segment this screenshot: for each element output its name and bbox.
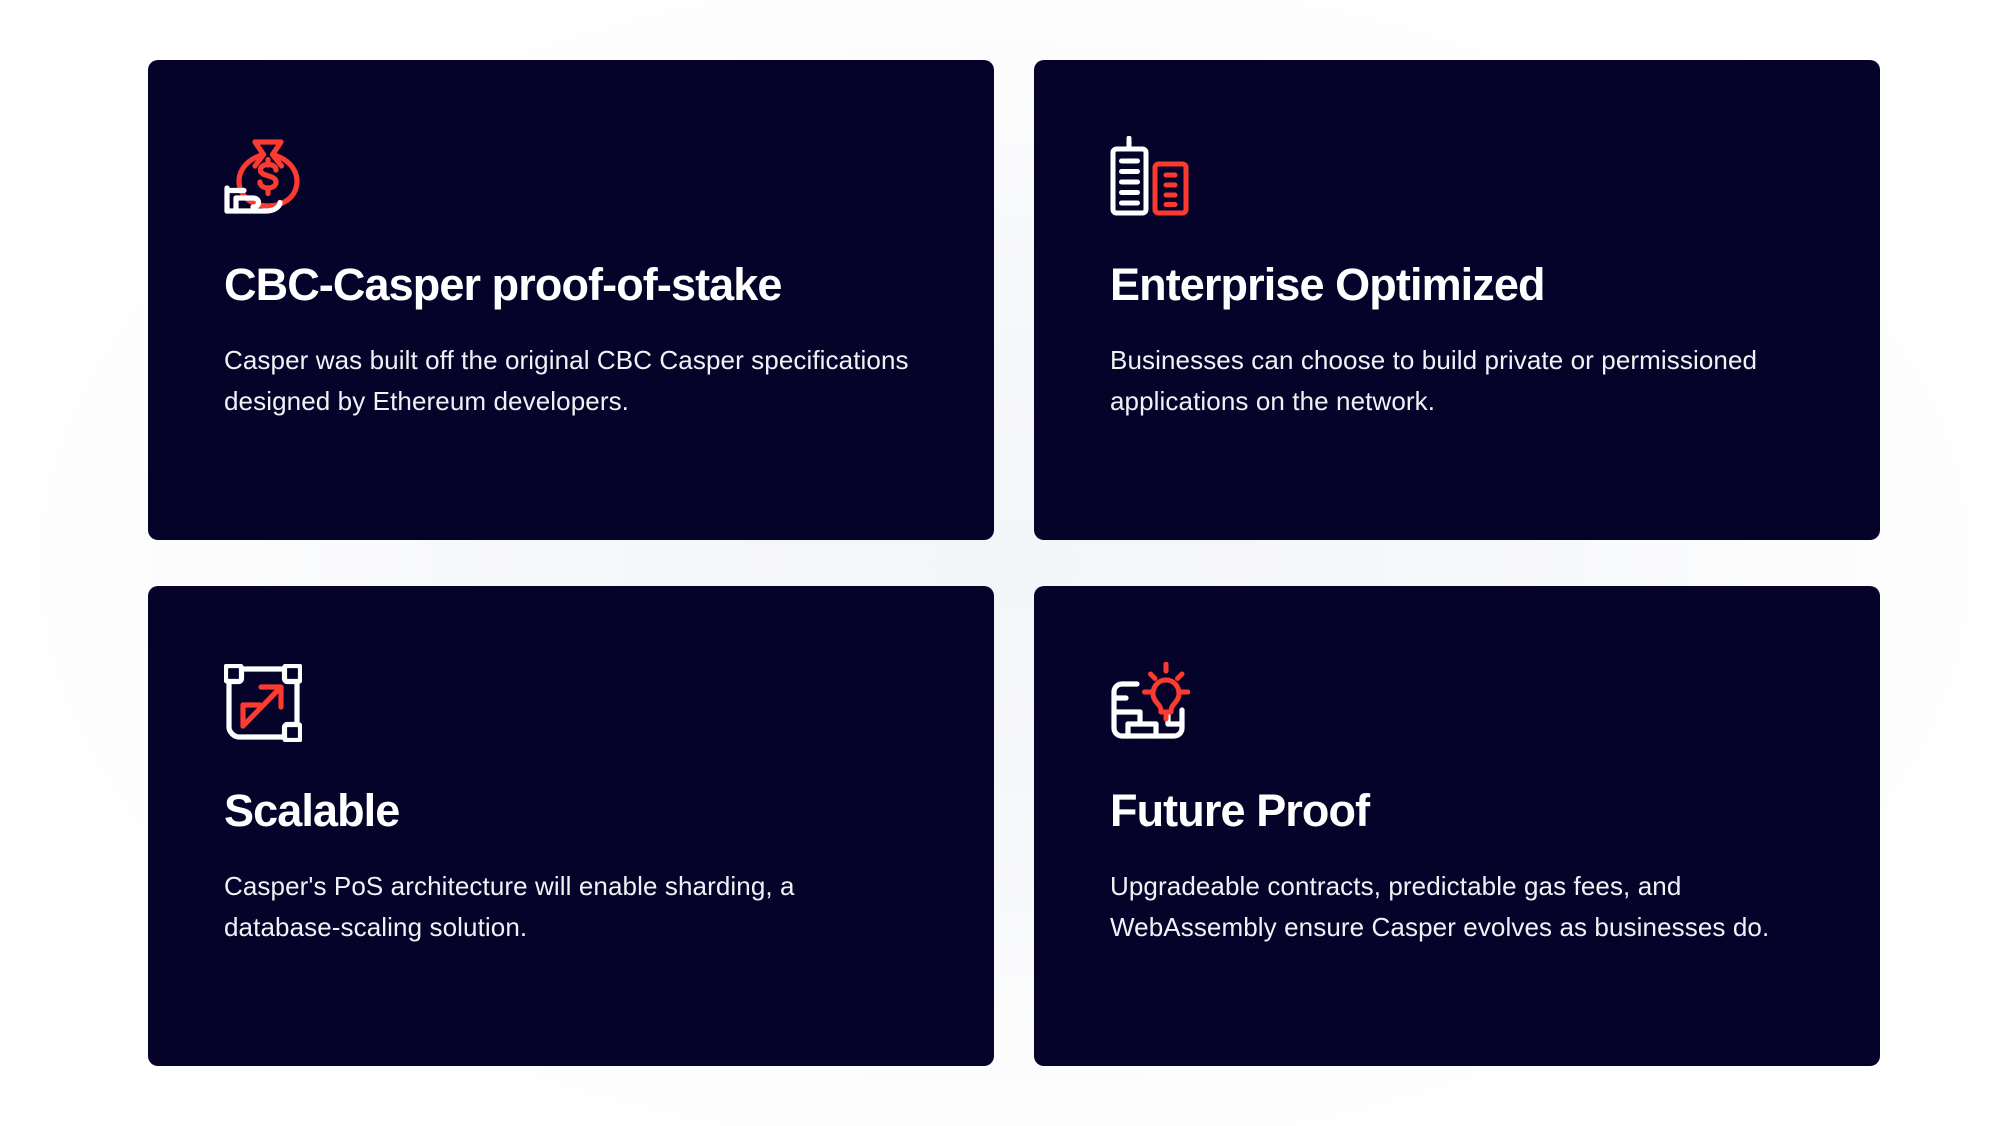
feature-card-body: Casper was built off the original CBC Ca…: [224, 340, 918, 422]
feature-card-cbc-casper[interactable]: CBC-Casper proof-of-stake Casper was bui…: [148, 60, 994, 540]
feature-card-title: CBC-Casper proof-of-stake: [224, 260, 918, 310]
feature-card-title: Future Proof: [1110, 786, 1804, 836]
feature-card-enterprise-optimized[interactable]: Enterprise Optimized Businesses can choo…: [1034, 60, 1880, 540]
feature-card-future-proof[interactable]: Future Proof Upgradeable contracts, pred…: [1034, 586, 1880, 1066]
scale-resize-arrow-icon: [224, 658, 918, 742]
feature-card-body: Businesses can choose to build private o…: [1110, 340, 1804, 422]
money-bag-in-hand-icon: [224, 132, 918, 216]
feature-cards-page: CBC-Casper proof-of-stake Casper was bui…: [0, 0, 2010, 1126]
office-buildings-icon: [1110, 132, 1804, 216]
feature-card-title: Enterprise Optimized: [1110, 260, 1804, 310]
feature-card-body: Casper's PoS architecture will enable sh…: [224, 866, 918, 948]
feature-card-title: Scalable: [224, 786, 918, 836]
feature-card-scalable[interactable]: Scalable Casper's PoS architecture will …: [148, 586, 994, 1066]
feature-card-grid: CBC-Casper proof-of-stake Casper was bui…: [148, 60, 1896, 1066]
feature-card-body: Upgradeable contracts, predictable gas f…: [1110, 866, 1804, 948]
circuit-lightbulb-icon: [1110, 658, 1804, 742]
